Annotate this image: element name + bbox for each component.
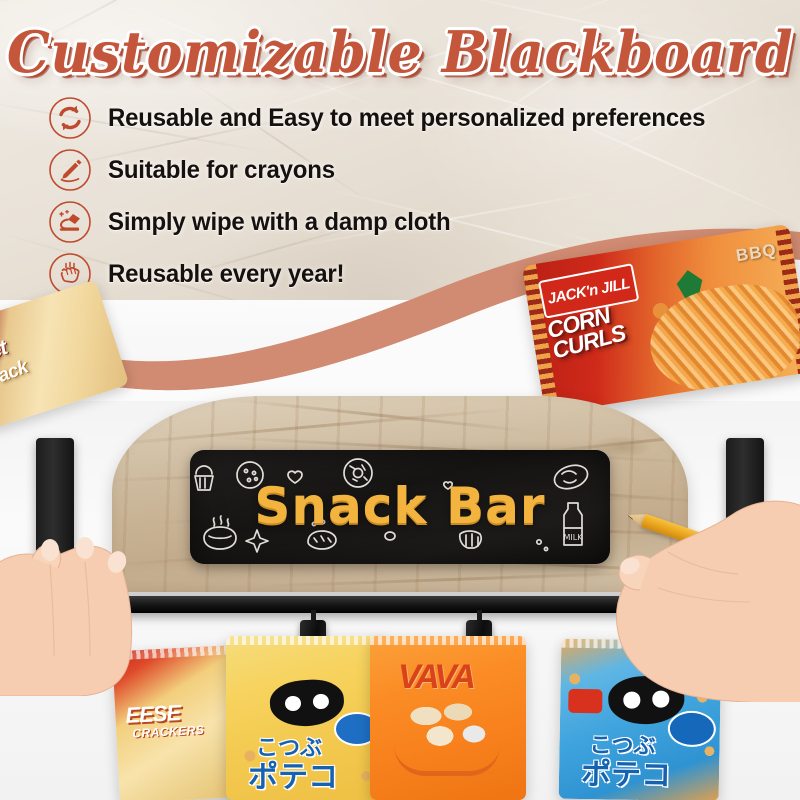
- feature-row-crayons: Suitable for crayons: [48, 144, 778, 196]
- chalkboard-panel[interactable]: MILK Snack Bar: [190, 450, 610, 564]
- chalkboard-text: Snack Bar: [190, 477, 610, 535]
- feature-label: Reusable and Easy to meet personalized p…: [108, 104, 705, 133]
- snack-sublabel-jp: ポテコ: [581, 749, 672, 795]
- flavor-badge: [670, 713, 715, 746]
- feature-label: Simply wipe with a damp cloth: [108, 208, 450, 237]
- cat-mascot-icon: [608, 675, 686, 726]
- feature-label: Suitable for crayons: [108, 156, 335, 185]
- wipe-clean-icon: [48, 200, 92, 244]
- refresh-arrows-icon: [48, 96, 92, 140]
- hanging-snack-poteco-blue: こつぶ ポテコ: [559, 639, 722, 800]
- hanging-snack-poteco-yellow: こつぶ ポテコ: [226, 636, 386, 800]
- pencil-icon: [48, 148, 92, 192]
- bag-corner-tag: [568, 689, 602, 714]
- bag-flavor-text: BBQ: [735, 240, 778, 266]
- title-container: Customizable Blackboard: [0, 20, 800, 84]
- feature-row-reusable-easy: Reusable and Easy to meet personalized p…: [48, 92, 778, 144]
- feature-label: Reusable every year!: [108, 260, 344, 289]
- snack-sublabel-jp: ポテコ: [248, 752, 338, 796]
- bracket-right: [726, 438, 764, 556]
- bag-zigzag-seal: [370, 636, 526, 645]
- bag-zigzag-seal: [226, 636, 386, 645]
- cat-mascot-icon: [268, 677, 345, 728]
- snack-sublabel: CRACKERS: [132, 723, 205, 741]
- product-marketing-image: Customizable Blackboard Reusable and Eas…: [0, 0, 800, 800]
- page-title: Customizable Blackboard: [7, 18, 793, 86]
- bag-zigzag-seal: [561, 639, 721, 651]
- hanging-snack-cashew: VAVA: [370, 636, 526, 800]
- bracket-left: [36, 438, 74, 556]
- snack-bag-sublabel: Pack: [0, 356, 31, 392]
- smile-arc-art: [394, 745, 500, 776]
- feature-row-wipe-clean: Simply wipe with a damp cloth: [48, 196, 778, 248]
- snack-label: VAVA: [398, 658, 473, 697]
